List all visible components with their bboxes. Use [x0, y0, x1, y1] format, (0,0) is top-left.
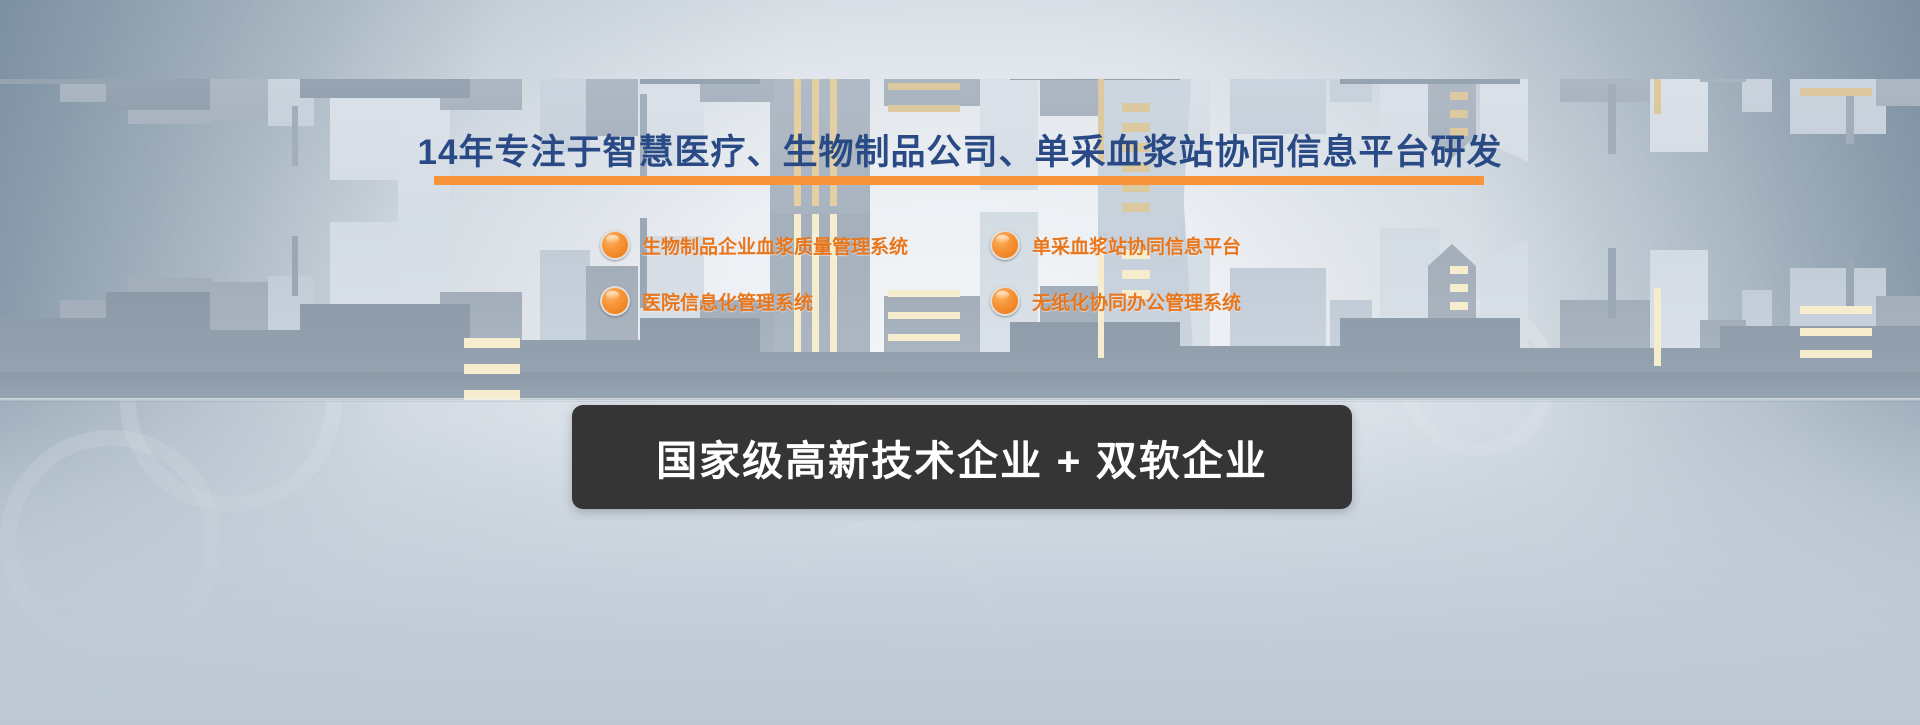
status-badge-label: 国家级高新技术企业 + 双软企业 — [656, 427, 1268, 487]
list-item-label: 生物制品企业血浆质量管理系统 — [642, 232, 908, 259]
title-underline-rule — [434, 176, 1484, 185]
list-item[interactable]: 医院信息化管理系统 — [600, 286, 990, 316]
list-item[interactable]: 无纸化协同办公管理系统 — [990, 286, 1380, 316]
banner-content: 14年专注于智慧医疗、生物制品公司、单采血浆站协同信息平台研发 生物制品企业血浆… — [0, 0, 1920, 725]
orange-sphere-bullet-icon — [600, 230, 630, 260]
list-item-label: 单采血浆站协同信息平台 — [1032, 232, 1241, 259]
product-list: 生物制品企业血浆质量管理系统 单采血浆站协同信息平台 医院信息化管理系统 无纸化… — [600, 230, 1380, 316]
list-item[interactable]: 生物制品企业血浆质量管理系统 — [600, 230, 990, 260]
page-title: 14年专注于智慧医疗、生物制品公司、单采血浆站协同信息平台研发 — [0, 124, 1920, 175]
list-item[interactable]: 单采血浆站协同信息平台 — [990, 230, 1380, 260]
orange-sphere-bullet-icon — [990, 286, 1020, 316]
list-item-label: 无纸化协同办公管理系统 — [1032, 288, 1241, 315]
status-badge: 国家级高新技术企业 + 双软企业 — [572, 405, 1352, 509]
orange-sphere-bullet-icon — [990, 230, 1020, 260]
promo-banner: 14年专注于智慧医疗、生物制品公司、单采血浆站协同信息平台研发 生物制品企业血浆… — [0, 0, 1920, 725]
orange-sphere-bullet-icon — [600, 286, 630, 316]
list-item-label: 医院信息化管理系统 — [642, 288, 813, 315]
